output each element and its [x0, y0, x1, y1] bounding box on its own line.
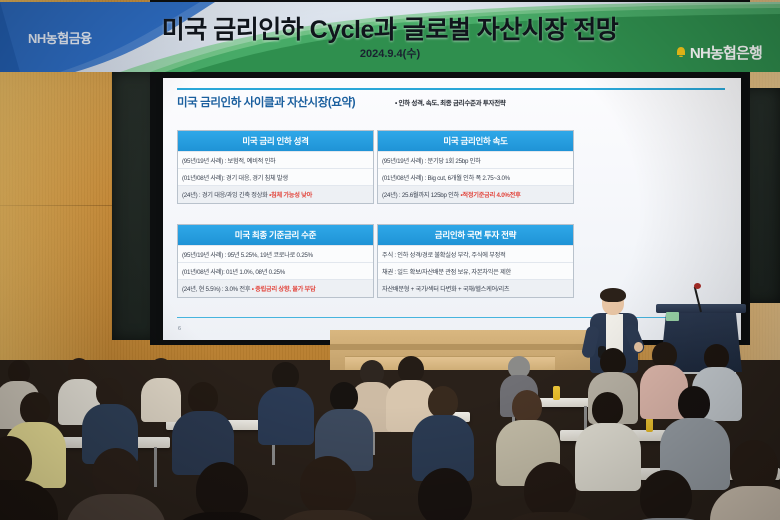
- box-row-highlight: •적정기준금리 4.0%전후: [461, 192, 521, 199]
- audience-head: [96, 378, 123, 407]
- audience-body: [575, 423, 641, 491]
- box-row-text: (24년, 현 5.5%) : 3.0% 전후: [182, 286, 250, 293]
- slide-box-terminal-rate: 미국 최종 기준금리 수준 (95년/19년 사례) : 95년 5.25%, …: [177, 224, 374, 298]
- audience-head: [188, 382, 218, 414]
- slide-page-number: 6: [178, 326, 181, 332]
- audience-head: [330, 382, 358, 412]
- audience-head: [300, 456, 356, 516]
- audience-body: [141, 378, 181, 422]
- audience-head: [730, 440, 778, 492]
- audience-head: [418, 468, 472, 520]
- box-row: 주식 : 인하 성격/경로 불확실성 부각, 주식에 부정적: [378, 245, 573, 262]
- slide-title: 미국 금리인하 사이클과 자산시장(요약): [177, 94, 355, 110]
- banner-date: 2024.9.4(수): [0, 45, 780, 61]
- presenter-hair: [600, 288, 626, 302]
- audience-body: [66, 494, 166, 520]
- box-row: (95년/19년 사례) : 보험적, 예비적 인하: [178, 151, 373, 168]
- box-row-highlight: • 중립금리 상향, 물가 부담: [252, 286, 316, 293]
- desk-leg: [154, 447, 157, 487]
- podium-monitor: [666, 312, 679, 321]
- slide-top-rule: [177, 88, 725, 90]
- event-banner: NH농협금융 미국 금리인하 Cycle과 글로벌 자산시장 전망 2024.9…: [0, 2, 780, 72]
- audience-head: [640, 470, 692, 520]
- slide-subtitle-bullet: • 인하 성격, 속도, 최종 금리수준과 투자전략: [395, 97, 506, 107]
- box-row: (24년) : 25.6월까지 125bp 인하 •적정기준금리 4.0%전후: [378, 185, 573, 202]
- microphone-icon: [694, 283, 701, 289]
- nh-bank-logo: NH농협은행: [675, 42, 762, 63]
- box-row: (01년/08년 사례) : Big cut, 6개월 인하 폭 2.75~3.…: [378, 168, 573, 185]
- audience-head: [20, 392, 50, 425]
- box-header: 미국 금리인하 속도: [378, 131, 573, 151]
- audience-head: [196, 462, 248, 518]
- audience-head: [272, 362, 299, 390]
- box-row-text: (24년) : 25.6월까지 125bp 인하: [382, 192, 459, 199]
- nh-bank-logo-text: NH농협은행: [690, 42, 762, 63]
- box-row: 자산배분형 + 국가/섹터 다변화 + 국채/헬스케어/리츠: [378, 279, 573, 296]
- presentation-slide: 미국 금리인하 사이클과 자산시장(요약) • 인하 성격, 속도, 최종 금리…: [163, 78, 741, 340]
- audience-body: [168, 512, 276, 520]
- presenter-hand: [634, 342, 643, 352]
- box-header: 미국 금리 인하 성격: [178, 131, 373, 151]
- slide-box-investment-strategy: 금리인하 국면 투자 전략 주식 : 인하 성격/경로 불확실성 부각, 주식에…: [377, 224, 574, 298]
- bell-icon: [675, 46, 687, 60]
- lecture-hall-scene: NH농협금융 미국 금리인하 Cycle과 글로벌 자산시장 전망 2024.9…: [0, 0, 780, 520]
- box-row: (95년/19년 사례) : 분기당 1회 25bp 인하: [378, 151, 573, 168]
- audience-head: [524, 462, 576, 518]
- box-header: 미국 최종 기준금리 수준: [178, 225, 373, 245]
- slide-box-rate-cut-nature: 미국 금리 인하 성격 (95년/19년 사례) : 보험적, 예비적 인하 (…: [177, 130, 374, 204]
- audience-body: [496, 512, 606, 520]
- box-row-highlight: •침체 가능성 낮아: [269, 192, 312, 199]
- water-bottle: [553, 386, 560, 400]
- box-row-text: (24년) : 경기 대응/과잉 긴축 정상화: [182, 192, 268, 199]
- slide-box-rate-cut-speed: 미국 금리인하 속도 (95년/19년 사례) : 분기당 1회 25bp 인하…: [377, 130, 574, 204]
- box-header: 금리인하 국면 투자 전략: [378, 225, 573, 245]
- box-row: (24년) : 경기 대응/과잉 긴축 정상화 •침체 가능성 낮아: [178, 185, 373, 202]
- box-row: (01년/08년 사례): 01년 1.0%, 08년 0.25%: [178, 262, 373, 279]
- audience-head: [592, 392, 623, 426]
- box-row: 채권 : 일드 확보/자산배분 관점 보유, 자본차익은 제한: [378, 262, 573, 279]
- water-bottle: [646, 418, 653, 432]
- audience-head: [600, 348, 626, 375]
- box-row: (24년, 현 5.5%) : 3.0% 전후 • 중립금리 상향, 물가 부담: [178, 279, 373, 296]
- audience-head: [512, 390, 542, 423]
- audience-body: [270, 510, 386, 520]
- audience-head: [428, 386, 458, 418]
- box-row: (01년/08년 사례): 경기 대응, 경기 침체 발생: [178, 168, 373, 185]
- audience-head: [92, 448, 140, 500]
- audience-body: [258, 387, 314, 445]
- audience-body: [710, 486, 780, 520]
- audience-head: [398, 356, 424, 383]
- audience-head: [678, 386, 710, 421]
- banner-title: 미국 금리인하 Cycle과 글로벌 자산시장 전망: [0, 10, 780, 46]
- box-row: (95년/19년 사례) : 95년 5.25%, 19년 코로나로 0.25%: [178, 245, 373, 262]
